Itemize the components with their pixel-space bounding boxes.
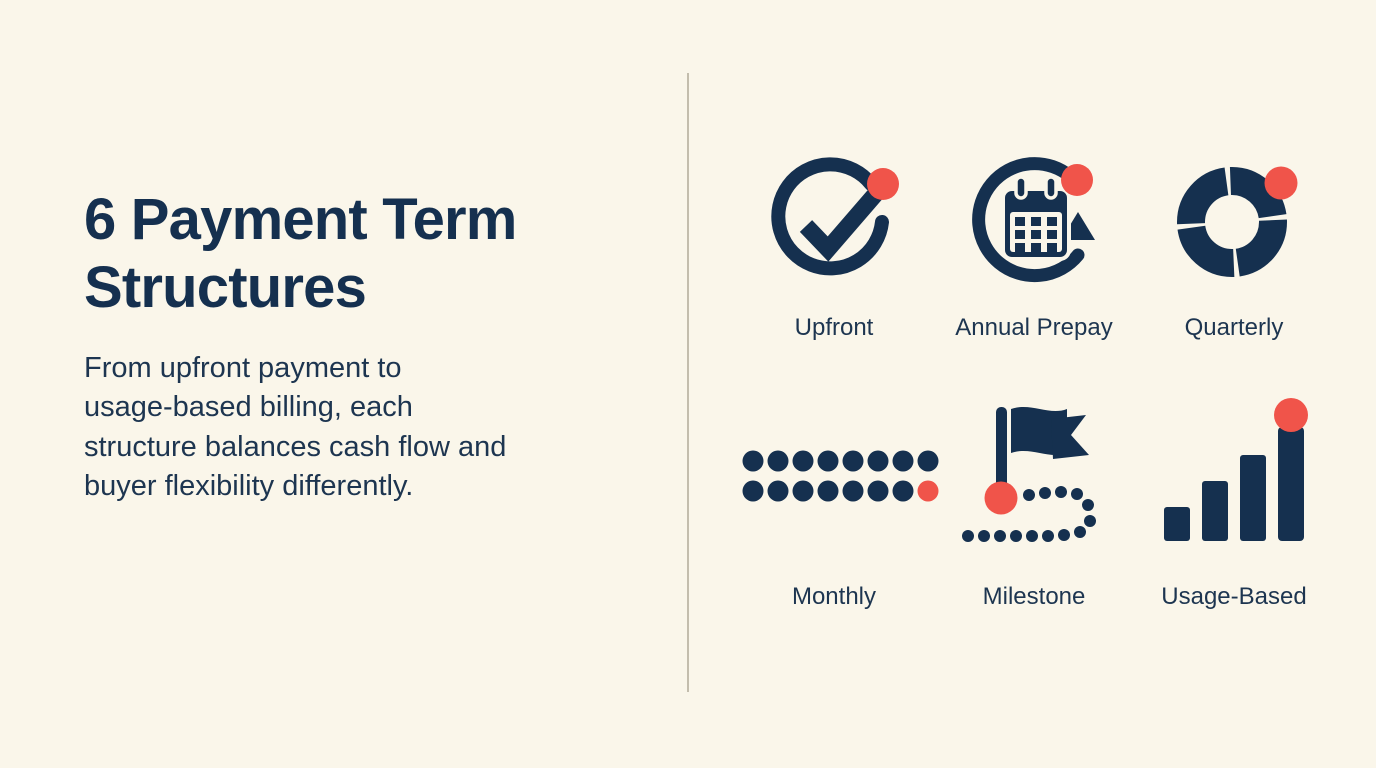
grid-item-label: Usage-Based — [1161, 585, 1306, 609]
grid-item-usage-based[interactable]: Usage-Based — [1136, 395, 1332, 640]
page-subcopy: From upfront payment to usage-based bill… — [84, 349, 624, 507]
grid-item-label: Upfront — [795, 316, 874, 340]
grid-item-label: Quarterly — [1185, 316, 1284, 340]
grid-item-upfront[interactable]: Upfront — [736, 150, 932, 395]
grid-item-label: Milestone — [983, 585, 1086, 609]
payment-structure-grid: Upfront — [736, 150, 1336, 640]
check-circle-icon — [759, 150, 909, 300]
ascending-bars-icon — [1159, 395, 1309, 555]
grid-item-annual-prepay[interactable]: Annual Prepay — [936, 150, 1132, 395]
donut-quarters-icon — [1159, 150, 1309, 300]
slide: 6 Payment Term Structures From upfront p… — [0, 0, 1376, 768]
grid-item-label: Annual Prepay — [955, 316, 1112, 340]
left-panel: 6 Payment Term Structures From upfront p… — [84, 186, 624, 507]
grid-item-quarterly[interactable]: Quarterly — [1136, 150, 1332, 395]
dot-grid-icon — [759, 395, 909, 555]
vertical-divider — [687, 73, 689, 692]
calendar-refresh-icon — [959, 150, 1109, 300]
page-title: 6 Payment Term Structures — [84, 186, 624, 323]
grid-item-milestone[interactable]: Milestone — [936, 395, 1132, 640]
grid-item-label: Monthly — [792, 585, 876, 609]
grid-item-monthly[interactable]: Monthly — [736, 395, 932, 640]
flag-path-icon — [959, 395, 1109, 555]
